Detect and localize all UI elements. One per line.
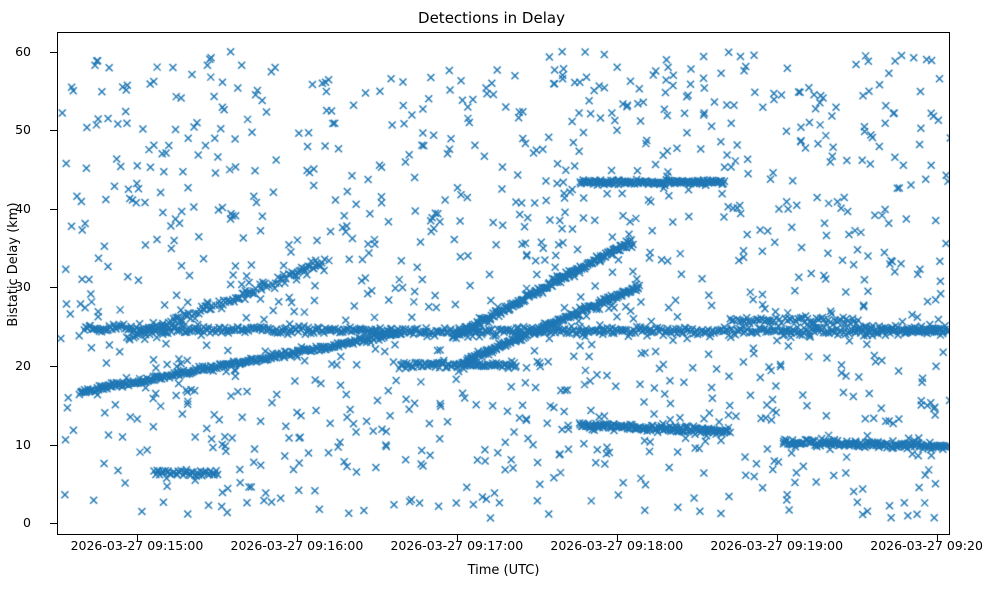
y-tick-mark <box>50 445 57 446</box>
plot-area <box>57 32 950 535</box>
y-tick-mark <box>50 209 57 210</box>
page-title: Detections in Delay <box>0 8 983 28</box>
y-tick-mark <box>50 52 57 53</box>
y-tick-label: 40 <box>0 201 31 216</box>
y-tick-mark <box>50 287 57 288</box>
scatter-plot-canvas <box>58 33 950 535</box>
x-axis-label: Time (UTC) <box>57 563 950 578</box>
y-tick-label: 10 <box>0 437 31 452</box>
y-tick-label: 50 <box>0 122 31 137</box>
y-tick-label: 30 <box>0 279 31 294</box>
y-tick-label: 60 <box>0 44 31 59</box>
x-tick-label: 2026-03-27 09:20:00 <box>827 538 983 553</box>
matplotlib-figure: Detections in Delay Bistatic Delay (km) … <box>0 0 983 590</box>
y-tick-mark <box>50 523 57 524</box>
y-tick-mark <box>50 130 57 131</box>
y-tick-label: 0 <box>0 515 31 530</box>
y-tick-mark <box>50 366 57 367</box>
y-tick-label: 20 <box>0 358 31 373</box>
